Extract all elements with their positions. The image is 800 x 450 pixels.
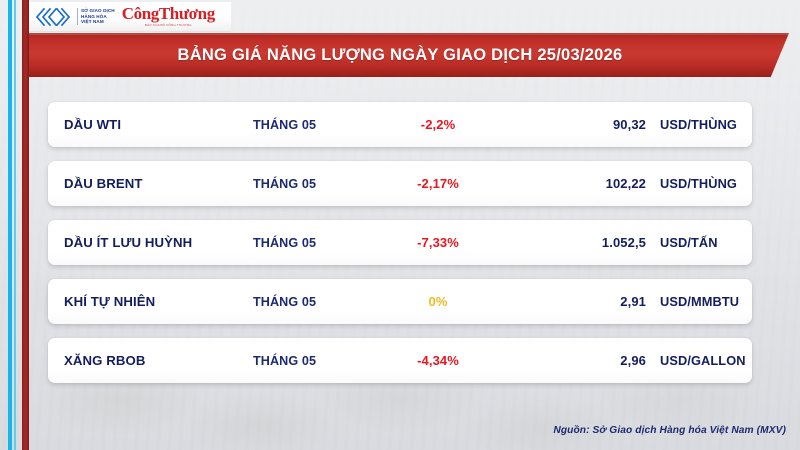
price-change: -4,34% <box>378 353 498 368</box>
price-value: 2,96 <box>518 353 646 368</box>
price-table: DẦU WTITHÁNG 05-2,2%90,32USD/THÙNGDẦU BR… <box>48 102 752 397</box>
congthuong-wordmark: CôngThương <box>122 6 215 23</box>
left-accent-stripe-cyan <box>8 0 12 450</box>
price-change: -2,17% <box>378 176 498 191</box>
price-value: 2,91 <box>518 294 646 309</box>
price-change: -2,2% <box>378 117 498 132</box>
commodity-name: DẦU WTI <box>64 117 121 132</box>
infographic-canvas: SỞ GIAO DỊCH HÀNG HÓA VIỆT NAM CôngThươn… <box>0 0 800 450</box>
title-banner: BẢNG GIÁ NĂNG LƯỢNG NGÀY GIAO DỊCH 25/03… <box>29 33 789 77</box>
table-row: DẦU ÍT LƯU HUỲNHTHÁNG 05-7,33%1.052,5USD… <box>48 220 752 265</box>
price-value: 102,22 <box>518 176 646 191</box>
mxv-logo: SỞ GIAO DỊCH HÀNG HÓA VIỆT NAM <box>35 7 115 27</box>
congthuong-tagline: BÁO CỦA BỘ CÔNG THƯƠNG <box>122 23 215 27</box>
mxv-name-text: SỞ GIAO DỊCH HÀNG HÓA VIỆT NAM <box>77 8 115 26</box>
price-change: 0% <box>378 294 498 309</box>
price-unit: USD/THÙNG <box>660 117 737 132</box>
logo-bar: SỞ GIAO DỊCH HÀNG HÓA VIỆT NAM CôngThươn… <box>29 2 231 32</box>
commodity-name: XĂNG RBOB <box>64 353 146 368</box>
table-row: DẦU BRENTTHÁNG 05-2,17%102,22USD/THÙNG <box>48 161 752 206</box>
price-unit: USD/GALLON <box>660 353 746 368</box>
source-note: Nguồn: Sở Giao dịch Hàng hóa Việt Nam (M… <box>553 425 786 436</box>
price-value: 90,32 <box>518 117 646 132</box>
congthuong-logo: CôngThương BÁO CỦA BỘ CÔNG THƯƠNG <box>122 6 215 28</box>
commodity-name: KHÍ TỰ NHIÊN <box>64 294 155 309</box>
mxv-chevron-logo-icon <box>35 7 73 27</box>
page-title: BẢNG GIÁ NĂNG LƯỢNG NGÀY GIAO DỊCH 25/03… <box>178 46 623 65</box>
left-accent-stripe-cyan-thin <box>14 0 16 450</box>
contract-month: THÁNG 05 <box>253 295 316 309</box>
contract-month: THÁNG 05 <box>253 236 316 250</box>
contract-month: THÁNG 05 <box>253 354 316 368</box>
contract-month: THÁNG 05 <box>253 177 316 191</box>
price-unit: USD/MMBTU <box>660 294 739 309</box>
left-accent-stripe-red <box>22 0 29 450</box>
contract-month: THÁNG 05 <box>253 118 316 132</box>
table-row: KHÍ TỰ NHIÊNTHÁNG 050%2,91USD/MMBTU <box>48 279 752 324</box>
price-unit: USD/THÙNG <box>660 176 737 191</box>
price-value: 1.052,5 <box>518 235 646 250</box>
price-unit: USD/TẤN <box>660 235 718 250</box>
table-row: XĂNG RBOBTHÁNG 05-4,34%2,96USD/GALLON <box>48 338 752 383</box>
price-change: -7,33% <box>378 235 498 250</box>
commodity-name: DẦU BRENT <box>64 176 143 191</box>
table-row: DẦU WTITHÁNG 05-2,2%90,32USD/THÙNG <box>48 102 752 147</box>
commodity-name: DẦU ÍT LƯU HUỲNH <box>64 235 192 250</box>
